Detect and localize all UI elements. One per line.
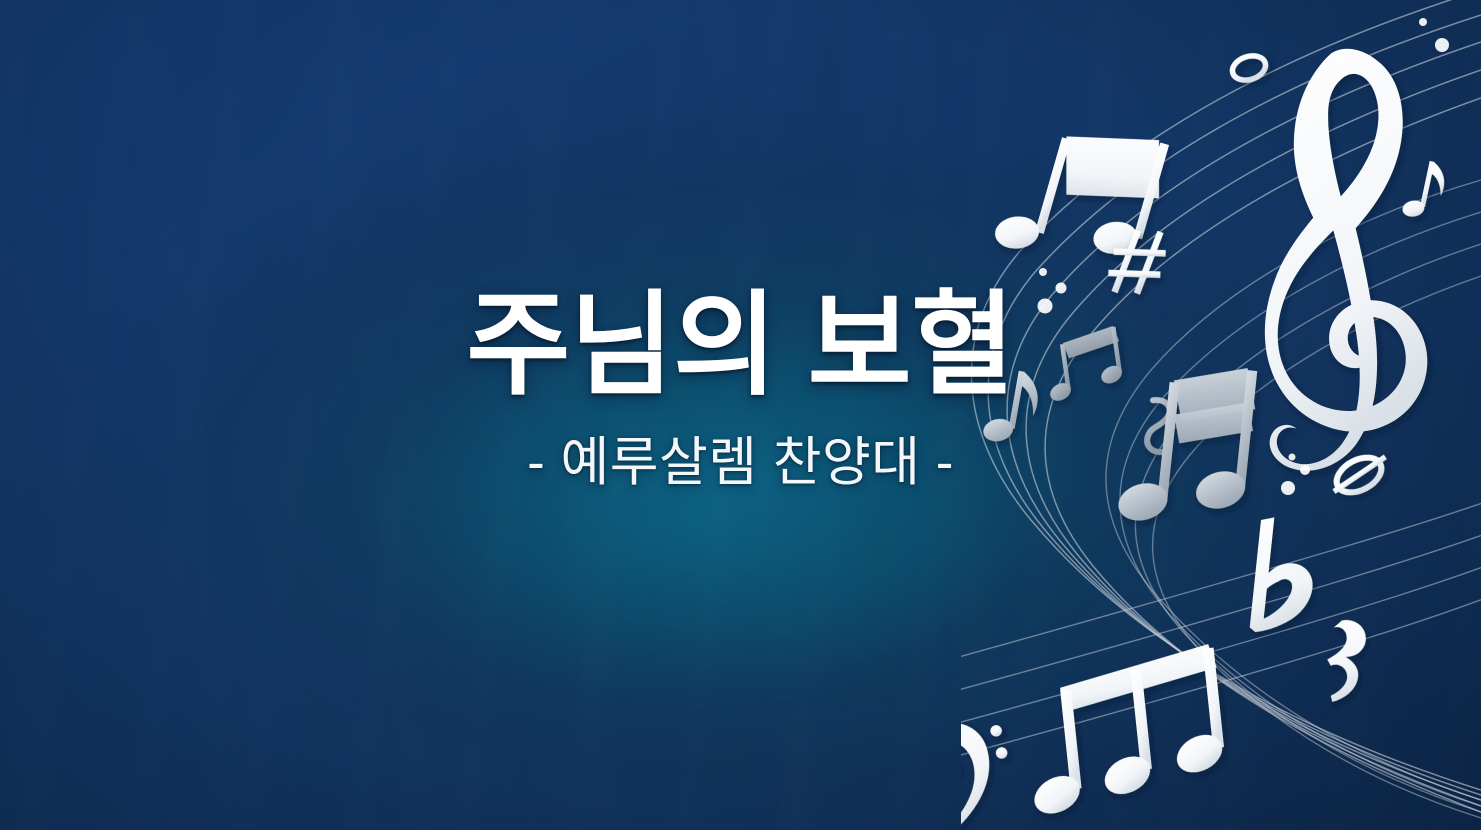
page-title: 주님의 보혈	[0, 282, 1481, 409]
presentation-slide: 주님의 보혈 - 예루살렘 찬양대 -	[0, 0, 1481, 830]
title-block: 주님의 보혈 - 예루살렘 찬양대 -	[0, 282, 1481, 494]
page-subtitle: - 예루살렘 찬양대 -	[0, 431, 1481, 495]
